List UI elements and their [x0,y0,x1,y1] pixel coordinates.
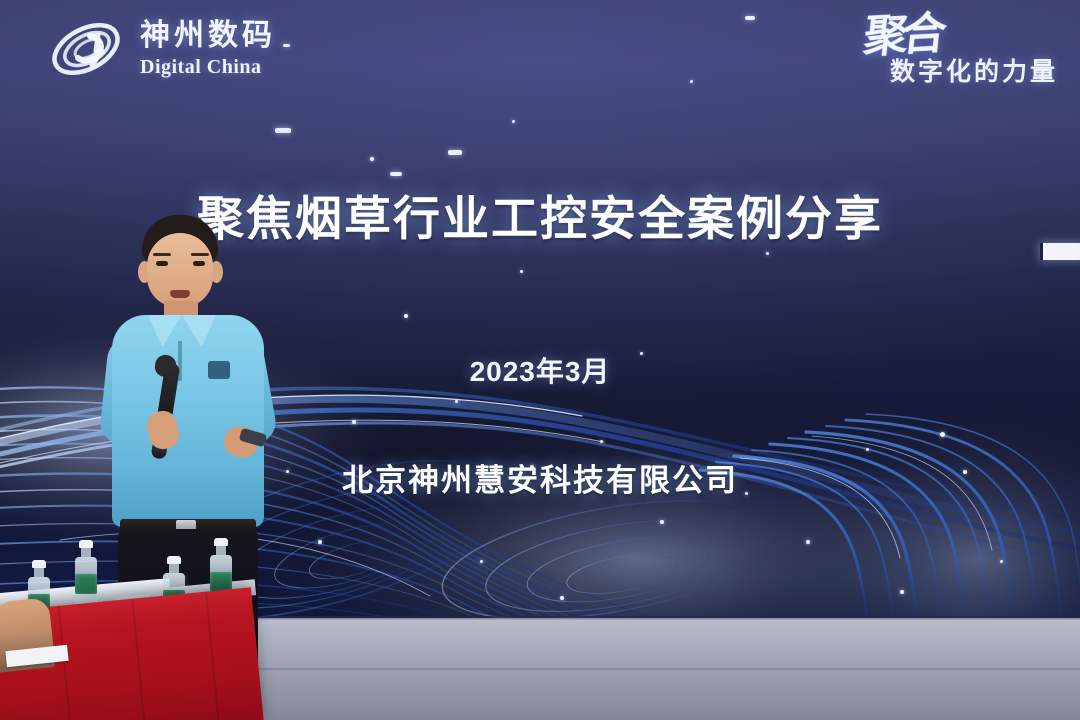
event-calligraphy-mark: 聚合 数字化的力量 [864,16,1058,88]
speaker-eye-right [193,261,205,266]
speaker-mouth [170,290,190,298]
digital-china-swirl-icon [46,18,126,80]
conference-stage-photo: 神州数码 Digital China 聚合 数字化的力量 聚焦烟草行业工控安全案… [0,0,1080,720]
speaker-figure [90,215,300,635]
speaker-polo-shirt [112,315,264,527]
speaker-shirt-logo [208,361,230,379]
water-bottle [75,540,97,605]
speaker-brow-left [153,253,171,256]
brand-name-english: Digital China [140,57,276,77]
speaker-brow-right [191,253,209,256]
brand-name-chinese: 神州数码 [140,21,276,51]
screen-bezel-chip [1040,243,1080,260]
digital-china-logo: 神州数码 Digital China [46,18,276,80]
speaker-eye-left [156,261,168,266]
event-calligraphy-text: 聚合 [862,14,943,58]
